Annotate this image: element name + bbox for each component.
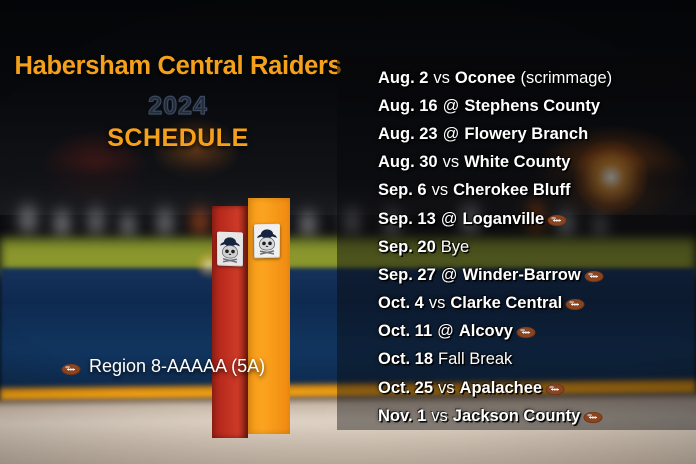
game-note: Fall Break [438, 350, 512, 369]
schedule-row: Sep. 13@Loganville [378, 205, 696, 233]
game-location-separator: vs [433, 69, 450, 88]
game-location-separator: vs [431, 407, 448, 426]
game-location-separator: vs [438, 379, 455, 398]
game-date: Oct. 18 [378, 350, 433, 369]
game-opponent: Clarke Central [450, 294, 562, 313]
schedule-row: Aug. 23@Flowery Branch [378, 120, 696, 148]
game-date: Aug. 2 [378, 69, 428, 88]
schedule-row: Aug. 30vsWhite County [378, 149, 696, 177]
schedule-row: Sep. 27@Winder-Barrow [378, 261, 696, 289]
game-location-separator: @ [443, 125, 460, 144]
game-location-separator: @ [443, 97, 460, 116]
game-location-separator: vs [443, 153, 460, 172]
schedule-list: Aug. 2vsOconee(scrimmage)Aug. 16@Stephen… [378, 64, 696, 430]
game-date: Sep. 13 [378, 210, 436, 229]
game-date: Sep. 6 [378, 181, 427, 200]
game-date: Nov. 1 [378, 407, 426, 426]
schedule-row: Nov. 1vsJackson County [378, 402, 696, 430]
game-opponent: Apalachee [460, 379, 543, 398]
game-date: Oct. 25 [378, 379, 433, 398]
game-opponent: Alcovy [459, 322, 513, 341]
season-year: 2024 [0, 92, 356, 121]
page-title: Habersham Central Raiders [0, 52, 356, 81]
schedule-graphic: Habersham Central Raiders 2024 SCHEDULE … [0, 0, 696, 464]
football-icon [545, 382, 565, 395]
game-location-separator: vs [429, 294, 446, 313]
game-date: Sep. 27 [378, 266, 436, 285]
football-icon [584, 269, 604, 282]
game-date: Aug. 16 [378, 97, 438, 116]
game-opponent: Jackson County [453, 407, 580, 426]
schedule-heading: SCHEDULE [0, 124, 356, 153]
game-opponent: Winder-Barrow [463, 266, 581, 285]
game-note: (scrimmage) [520, 69, 612, 88]
football-icon [61, 360, 81, 373]
raider-skull-logo-right [254, 224, 280, 258]
game-location-separator: vs [432, 181, 449, 200]
raider-skull-logo-left [217, 232, 243, 267]
game-opponent: Flowery Branch [464, 125, 588, 144]
game-note: Bye [441, 238, 469, 257]
game-date: Sep. 20 [378, 238, 436, 257]
game-date: Aug. 30 [378, 153, 438, 172]
region-label-text: Region 8-AAAAA (5A) [89, 356, 265, 377]
game-date: Oct. 4 [378, 294, 424, 313]
endzone-pylons [200, 198, 292, 438]
game-opponent: White County [464, 153, 570, 172]
schedule-row: Sep. 20Bye [378, 233, 696, 261]
game-opponent: Stephens County [464, 97, 600, 116]
region-label: Region 8-AAAAA (5A) [58, 356, 265, 377]
schedule-row: Oct. 4vsClarke Central [378, 290, 696, 318]
football-icon [547, 213, 567, 226]
game-location-separator: @ [437, 322, 454, 341]
game-date: Aug. 23 [378, 125, 438, 144]
football-icon [516, 325, 536, 338]
game-date: Oct. 11 [378, 322, 432, 341]
game-opponent: Cherokee Bluff [453, 181, 570, 200]
schedule-row: Oct. 25vsApalachee [378, 374, 696, 402]
game-opponent: Loganville [463, 210, 545, 229]
football-icon [583, 410, 603, 423]
game-opponent: Oconee [455, 69, 516, 88]
schedule-row: Oct. 18Fall Break [378, 346, 696, 374]
schedule-row: Oct. 11@Alcovy [378, 318, 696, 346]
schedule-row: Aug. 2vsOconee(scrimmage) [378, 64, 696, 92]
game-location-separator: @ [441, 210, 458, 229]
schedule-row: Sep. 6vsCherokee Bluff [378, 177, 696, 205]
football-icon [565, 297, 585, 310]
schedule-row: Aug. 16@Stephens County [378, 92, 696, 120]
game-location-separator: @ [441, 266, 458, 285]
